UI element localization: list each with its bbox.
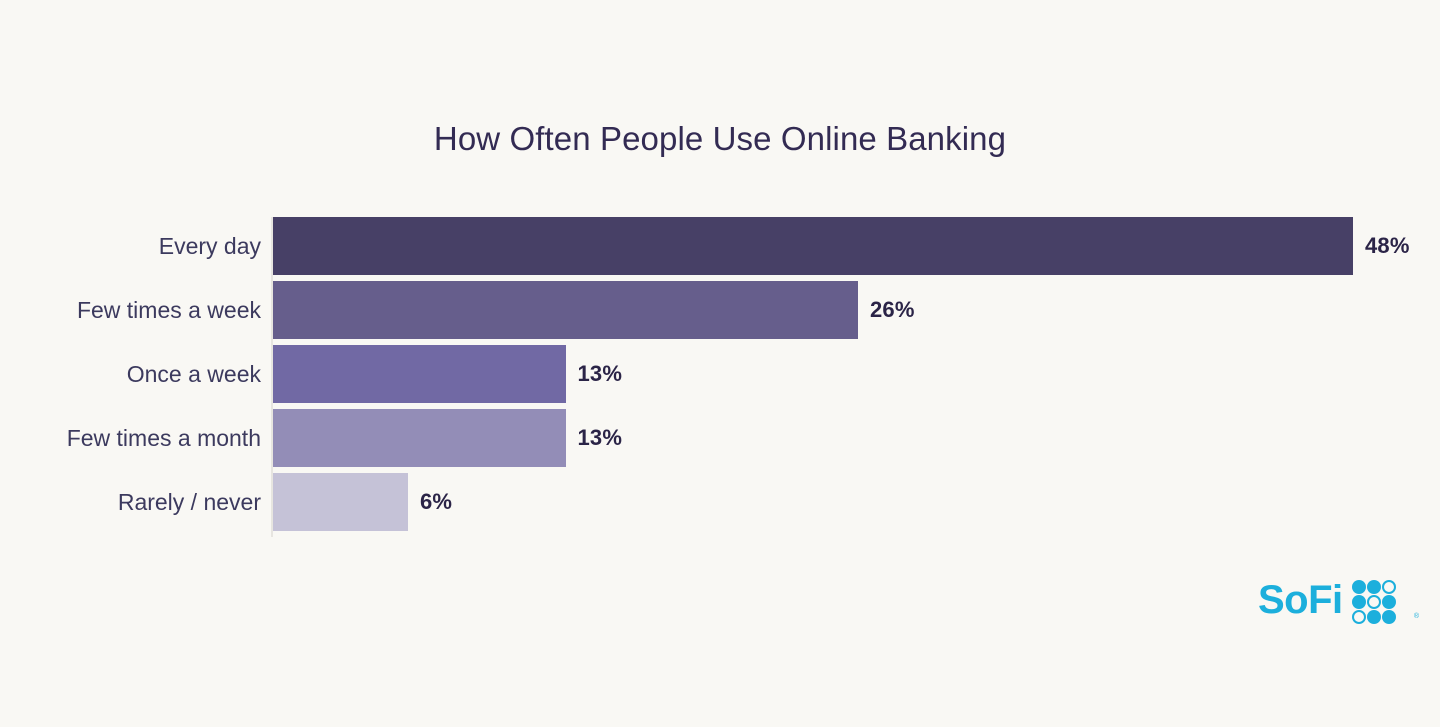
sofi-dot-grid-icon bbox=[1352, 580, 1396, 624]
logo-dot-outline-r2c2 bbox=[1367, 595, 1381, 609]
bar-row: Rarely / never6% bbox=[0, 473, 1440, 531]
bar-track bbox=[273, 473, 408, 531]
bar[interactable] bbox=[273, 473, 408, 531]
sofi-logo: SoFi ® bbox=[1258, 572, 1418, 628]
bar-row: Few times a week26% bbox=[0, 281, 1440, 339]
logo-dot-filled-r1c2 bbox=[1367, 580, 1381, 594]
sofi-wordmark: SoFi bbox=[1258, 580, 1343, 620]
bar-row: Few times a month13% bbox=[0, 409, 1440, 467]
bar-row: Once a week13% bbox=[0, 345, 1440, 403]
bar-track bbox=[273, 409, 566, 467]
plot-area: Every day48%Few times a week26%Once a we… bbox=[0, 212, 1440, 542]
logo-dot-filled-r1c1 bbox=[1352, 580, 1366, 594]
chart-title: How Often People Use Online Banking bbox=[0, 118, 1440, 160]
category-label: Once a week bbox=[127, 345, 261, 403]
category-label: Few times a month bbox=[67, 409, 261, 467]
logo-dot-filled-r3c3 bbox=[1382, 610, 1396, 624]
bar-value-label: 13% bbox=[578, 345, 623, 403]
category-label: Every day bbox=[159, 217, 261, 275]
category-label: Rarely / never bbox=[118, 473, 261, 531]
logo-dot-filled-r2c3 bbox=[1382, 595, 1396, 609]
bar[interactable] bbox=[273, 281, 858, 339]
logo-dot-filled-r2c1 bbox=[1352, 595, 1366, 609]
logo-dot-outline-r1c3 bbox=[1382, 580, 1396, 594]
bar-track bbox=[273, 217, 1353, 275]
bar-value-label: 48% bbox=[1365, 217, 1410, 275]
bar[interactable] bbox=[273, 409, 566, 467]
category-label: Few times a week bbox=[77, 281, 261, 339]
bar-value-label: 26% bbox=[870, 281, 915, 339]
logo-dot-filled-r3c2 bbox=[1367, 610, 1381, 624]
bar-chart-figure: How Often People Use Online Banking Ever… bbox=[0, 0, 1440, 727]
bar-value-label: 6% bbox=[420, 473, 452, 531]
bar-value-label: 13% bbox=[578, 409, 623, 467]
bar-track bbox=[273, 281, 858, 339]
logo-dot-outline-r3c1 bbox=[1352, 610, 1366, 624]
bar-row: Every day48% bbox=[0, 217, 1440, 275]
bar[interactable] bbox=[273, 345, 566, 403]
bar[interactable] bbox=[273, 217, 1353, 275]
trademark-symbol: ® bbox=[1414, 613, 1419, 620]
bar-track bbox=[273, 345, 566, 403]
